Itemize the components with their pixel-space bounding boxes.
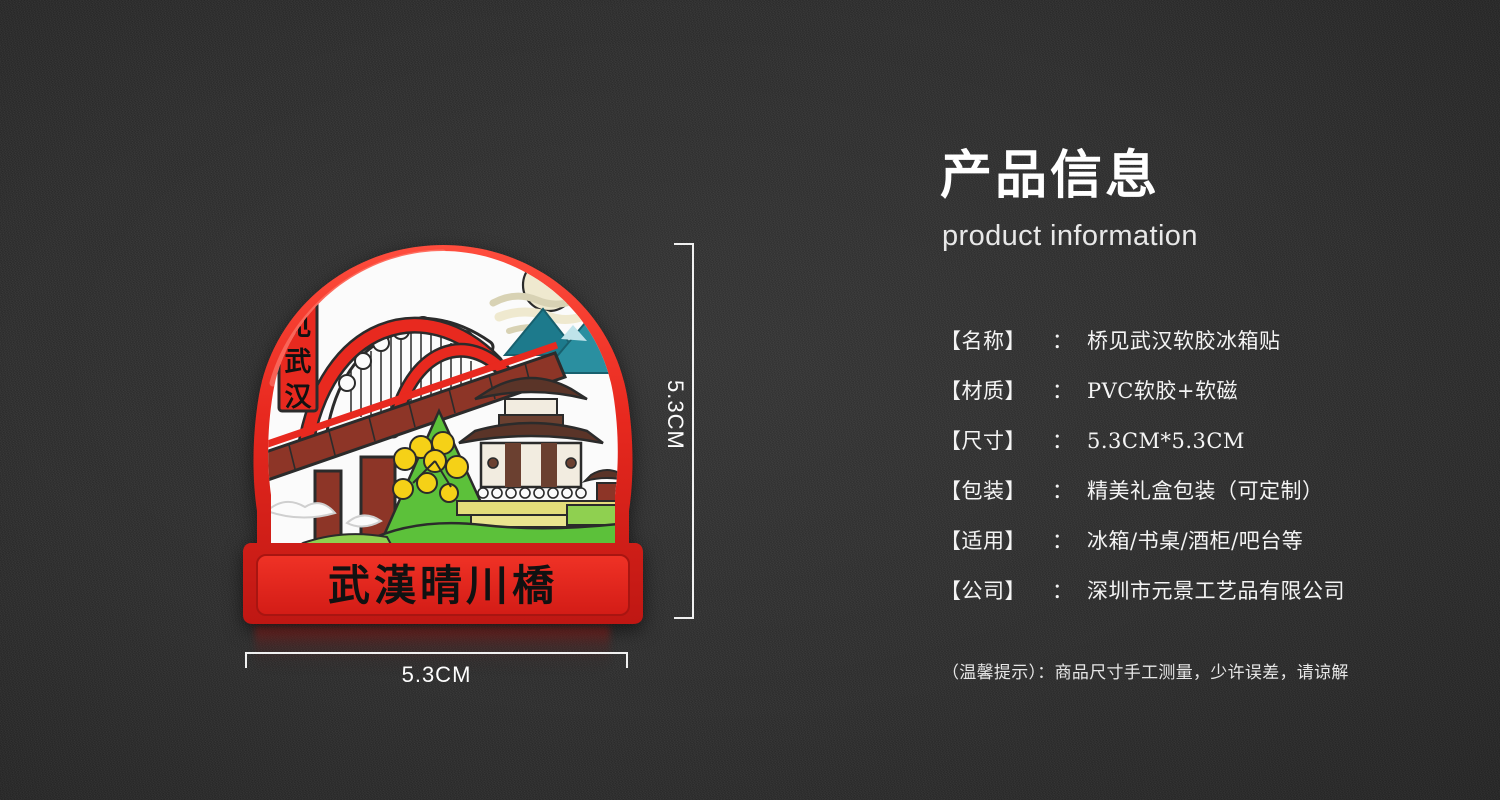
spec-separator: ： — [1052, 425, 1075, 455]
fridge-magnet-product: 桥 见 武 汉 武漢晴川橋 — [243, 243, 643, 626]
seal-char-3: 武 — [285, 347, 312, 378]
svg-text:武漢晴川橋: 武漢晴川橋 — [328, 561, 558, 610]
spec-key: 【包装】 — [940, 475, 1052, 505]
spec-row-usage: 【适用】 ： 冰箱/书桌/酒柜/吧台等 — [940, 525, 1500, 575]
spec-value: 桥见武汉软胶冰箱贴 — [1075, 325, 1281, 355]
spec-row-material: 【材质】 ： PVC软胶+软磁 — [940, 375, 1500, 425]
spec-value: 冰箱/书桌/酒柜/吧台等 — [1075, 525, 1303, 555]
panel-title-cn: 产品信息 — [940, 133, 1160, 208]
magnet-artwork: 桥 见 武 汉 — [243, 243, 643, 549]
spec-key: 【材质】 — [940, 375, 1052, 405]
spec-value: 5.3CM*5.3CM — [1075, 429, 1245, 453]
product-image-area: 桥 见 武 汉 武漢晴川橋 5.3CM — [0, 0, 740, 800]
spec-separator: ： — [1052, 325, 1075, 355]
seal-char-4: 汉 — [285, 382, 313, 413]
spec-value: PVC软胶+软磁 — [1075, 375, 1238, 405]
spec-list: 【名称】 ： 桥见武汉软胶冰箱贴 【材质】 ： PVC软胶+软磁 【尺寸】 ： … — [940, 325, 1500, 625]
height-measure-label: 5.3CM — [662, 380, 688, 450]
spec-value: 深圳市元景工艺品有限公司 — [1075, 575, 1345, 605]
width-measure-label: 5.3CM — [245, 662, 628, 688]
spec-separator: ： — [1052, 575, 1075, 605]
spec-key: 【尺寸】 — [940, 425, 1052, 455]
panel-title-en: product information — [942, 220, 1198, 253]
spec-separator: ： — [1052, 525, 1075, 555]
spec-row-company: 【公司】 ： 深圳市元景工艺品有限公司 — [940, 575, 1500, 625]
spec-row-packaging: 【包装】 ： 精美礼盒包装（可定制） — [940, 475, 1500, 525]
spec-separator: ： — [1052, 475, 1075, 505]
spec-value: 精美礼盒包装（可定制） — [1075, 475, 1324, 505]
measurement-note: （温馨提示）：商品尺寸手工测量，少许误差，请谅解 — [942, 658, 1349, 683]
spec-key: 【适用】 — [940, 525, 1052, 555]
spec-key: 【公司】 — [940, 575, 1052, 605]
magnet-banner: 武漢晴川橋 — [257, 555, 629, 615]
spec-key: 【名称】 — [940, 325, 1052, 355]
spec-separator: ： — [1052, 375, 1075, 405]
product-detail-page: 桥 见 武 汉 武漢晴川橋 5.3CM — [0, 0, 1500, 800]
spec-row-size: 【尺寸】 ： 5.3CM*5.3CM — [940, 425, 1500, 475]
spec-row-name: 【名称】 ： 桥见武汉软胶冰箱贴 — [940, 325, 1500, 375]
product-information-panel: 产品信息 product information 【名称】 ： 桥见武汉软胶冰箱… — [940, 0, 1500, 800]
